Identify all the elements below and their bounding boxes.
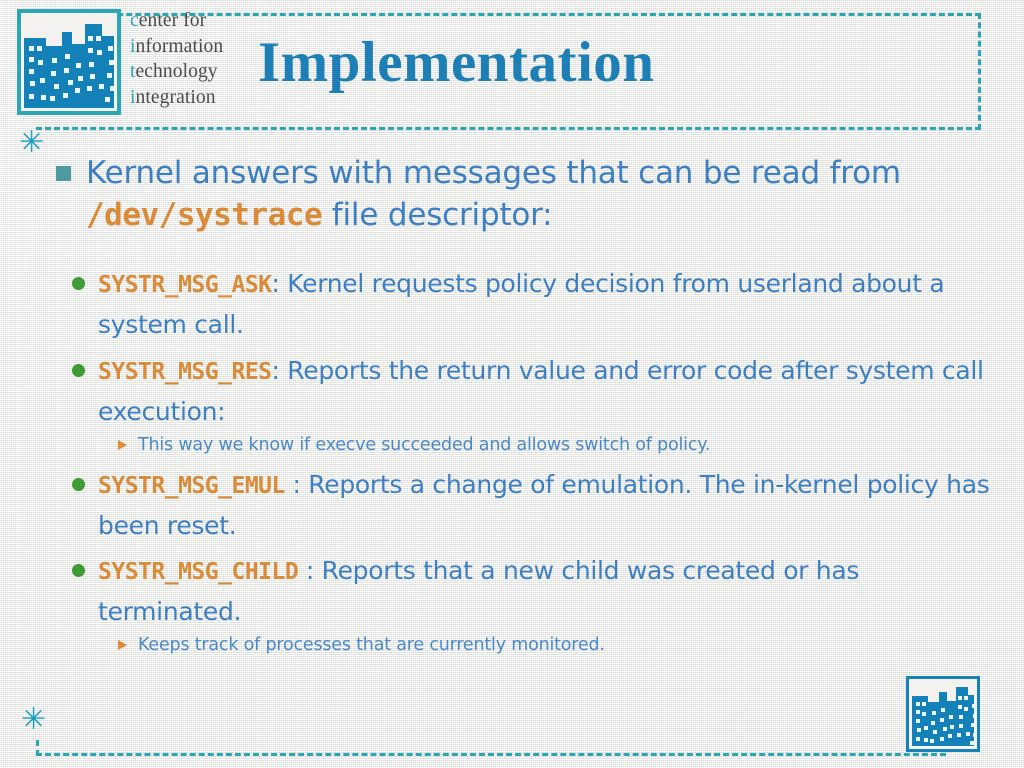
lead-text-part1: Kernel answers with messages that can be… bbox=[86, 155, 901, 191]
footer-dashed-frame bbox=[36, 740, 946, 756]
list-item: SYSTR_MSG_CHILD : Reports that a new chi… bbox=[72, 551, 998, 631]
asterisk-decoration-icon: ✳ bbox=[21, 705, 46, 735]
sub-item-text: Keeps track of processes that are curren… bbox=[138, 635, 605, 655]
citi-skyline-logo-icon bbox=[17, 9, 121, 115]
message-constant: SYSTR_MSG_ASK bbox=[98, 272, 272, 298]
logo-wordmark-line: information bbox=[130, 34, 250, 60]
dot-bullet-icon bbox=[72, 277, 85, 290]
skyline-graphic bbox=[24, 16, 114, 108]
lead-text-part2: file descriptor: bbox=[322, 197, 552, 233]
logo-wordmark-line: technology bbox=[130, 59, 250, 85]
logo-word-rest: ntegration bbox=[136, 87, 216, 108]
list-item: SYSTR_MSG_ASK: Kernel requests policy de… bbox=[72, 264, 998, 344]
slide-header: center for information technology integr… bbox=[0, 0, 1024, 132]
list-item: SYSTR_MSG_RES: Reports the return value … bbox=[72, 351, 998, 431]
message-constant: SYSTR_MSG_EMUL bbox=[98, 473, 285, 499]
logo-wordmark-line: integration bbox=[130, 85, 250, 111]
sub-list-item: This way we know if execve succeeded and… bbox=[116, 432, 978, 458]
slide-canvas: center for information technology integr… bbox=[0, 0, 1024, 768]
page-title: Implementation bbox=[258, 32, 654, 94]
logo-word-rest: echnology bbox=[136, 61, 218, 82]
message-list: SYSTR_MSG_ASK: Kernel requests policy de… bbox=[0, 264, 1024, 658]
logo-word-rest: enter for bbox=[139, 10, 206, 31]
sub-list-item: Keeps track of processes that are curren… bbox=[116, 632, 978, 658]
slide-content: Kernel answers with messages that can be… bbox=[0, 140, 1024, 660]
triangle-bullet-icon bbox=[118, 440, 127, 450]
citi-skyline-logo-corner-icon bbox=[906, 676, 980, 752]
logo-wordmark-line: center for bbox=[130, 8, 250, 34]
logo-wordmark: center for information technology integr… bbox=[130, 8, 250, 110]
lead-code-path: /dev/systrace bbox=[86, 197, 322, 233]
square-bullet-icon bbox=[56, 166, 71, 181]
list-item: SYSTR_MSG_EMUL : Reports a change of emu… bbox=[72, 465, 998, 545]
logo-word-rest: nformation bbox=[136, 36, 224, 57]
bullet-level1: Kernel answers with messages that can be… bbox=[54, 152, 986, 236]
dot-bullet-icon bbox=[72, 564, 85, 577]
triangle-bullet-icon bbox=[118, 640, 127, 650]
logo-word-initial: c bbox=[130, 10, 139, 31]
message-constant: SYSTR_MSG_RES bbox=[98, 359, 272, 385]
dot-bullet-icon bbox=[72, 364, 85, 377]
sub-item-text: This way we know if execve succeeded and… bbox=[138, 435, 710, 455]
message-constant: SYSTR_MSG_CHILD bbox=[98, 559, 298, 585]
dot-bullet-icon bbox=[72, 478, 85, 491]
skyline-graphic-small bbox=[912, 682, 974, 746]
